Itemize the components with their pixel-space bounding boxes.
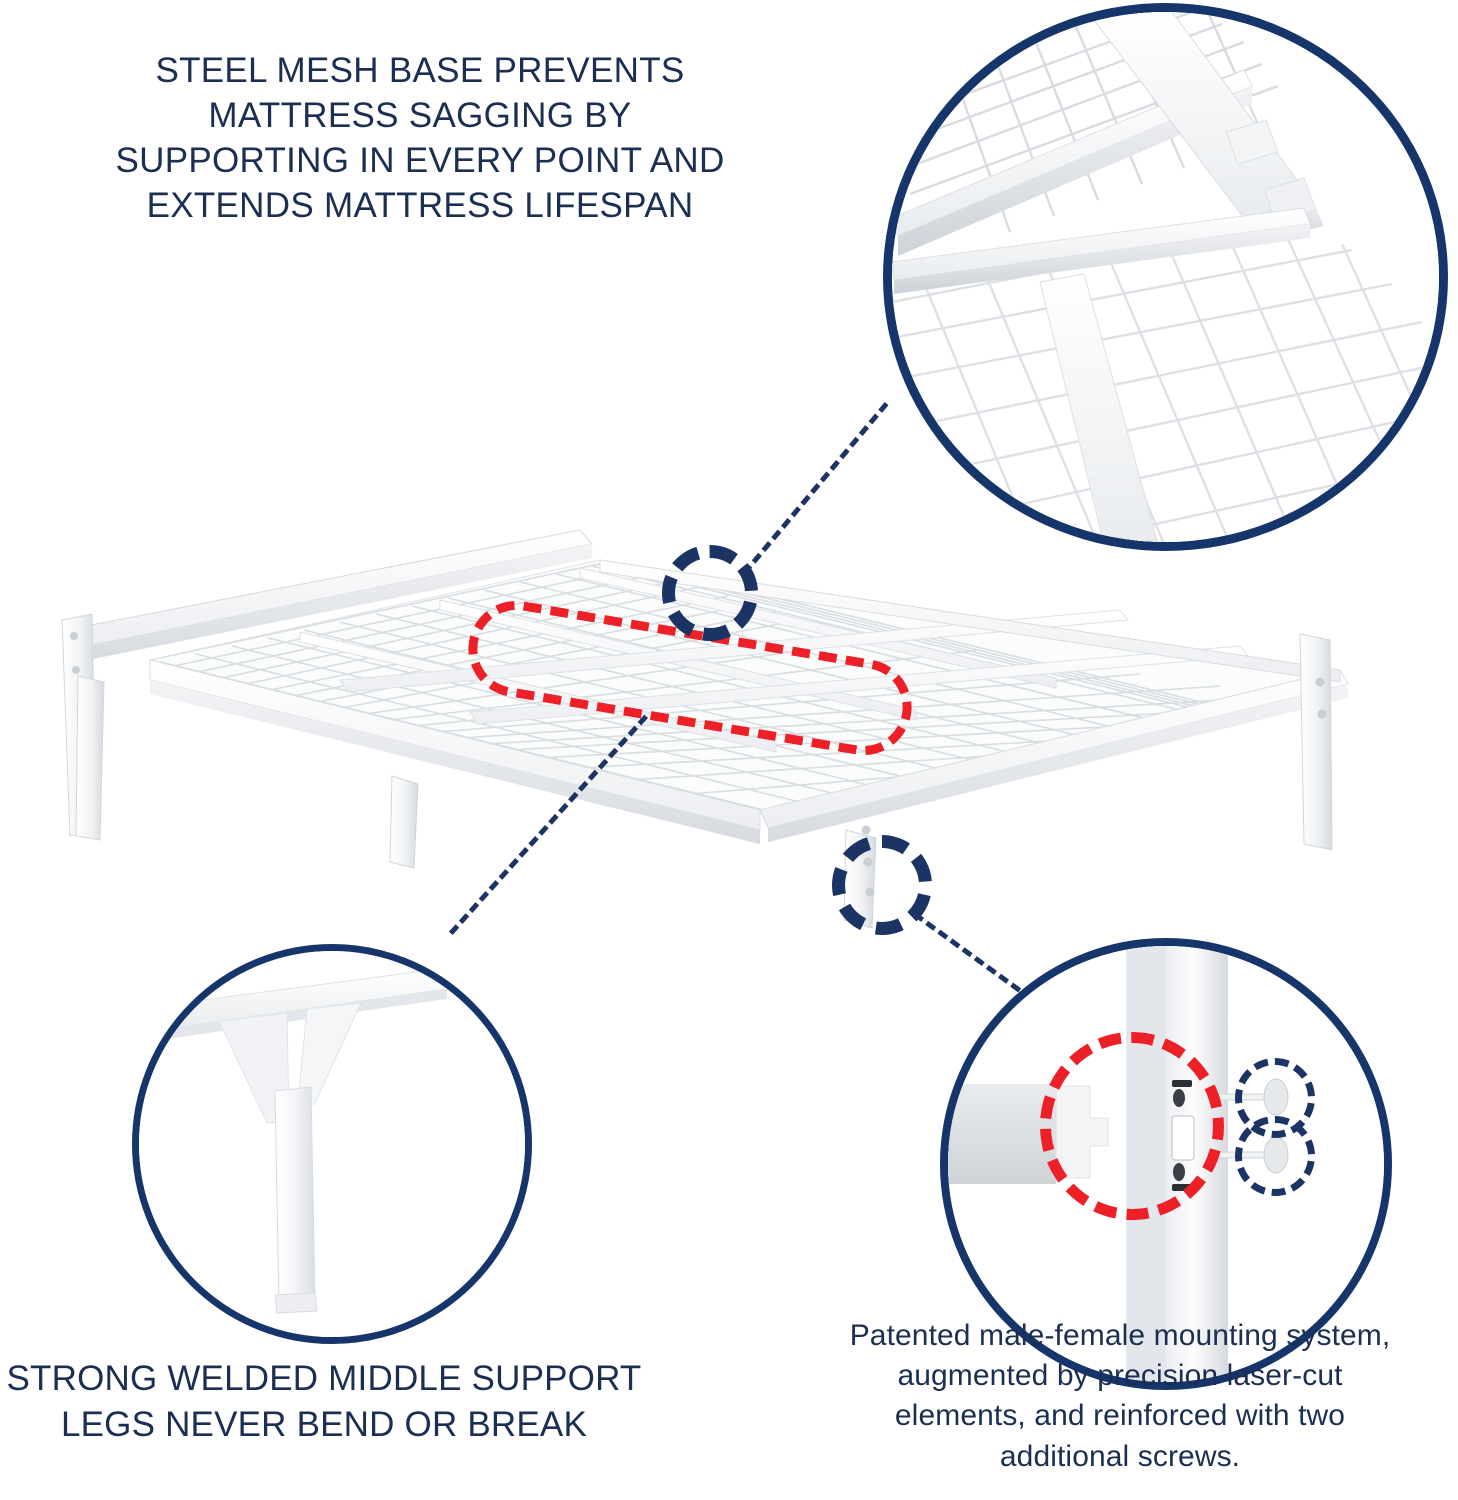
mesh-closeup-svg bbox=[892, 12, 1440, 544]
callout-steel-mesh-art bbox=[892, 12, 1439, 542]
callout-steel-mesh bbox=[883, 3, 1448, 551]
caption-bl-line-2: LEGS NEVER BEND OR BREAK bbox=[0, 1402, 654, 1448]
post-foot bbox=[275, 1293, 317, 1313]
support-post bbox=[275, 1087, 315, 1305]
corner-joint-marker bbox=[832, 835, 932, 935]
mesh-deck-marker bbox=[662, 545, 758, 641]
caption-br-line-3: elements, and reinforced with two bbox=[790, 1396, 1450, 1436]
infographic-canvas: STEEL MESH BASE PREVENTS MATTRESS SAGGIN… bbox=[0, 0, 1458, 1500]
caption-middle-support: STRONG WELDED MIDDLE SUPPORT LEGS NEVER … bbox=[0, 1356, 654, 1447]
caption-mounting-system: Patented male-female mounting system, au… bbox=[790, 1316, 1450, 1477]
caption-bl-line-1: STRONG WELDED MIDDLE SUPPORT bbox=[0, 1356, 654, 1402]
headline-line-2: MATTRESS SAGGING BY bbox=[60, 93, 780, 138]
caption-br-line-2: augmented by precision laser-cut bbox=[790, 1356, 1450, 1396]
callout-middle-leg-art bbox=[139, 951, 525, 1337]
headline-line-4: EXTENDS MATTRESS LIFESPAN bbox=[60, 183, 780, 228]
caption-br-line-1: Patented male-female mounting system, bbox=[790, 1316, 1450, 1356]
male-female-connection-ring bbox=[1040, 1032, 1224, 1220]
headline-line-3: SUPPORTING IN EVERY POINT AND bbox=[60, 138, 780, 183]
caption-br-line-4: additional screws. bbox=[790, 1437, 1450, 1477]
headline-line-1: STEEL MESH BASE PREVENTS bbox=[60, 48, 780, 93]
middle-leg-svg bbox=[139, 951, 525, 1337]
screw-ring-lower bbox=[1235, 1116, 1315, 1196]
callout-middle-support-leg bbox=[132, 944, 532, 1344]
headline-text: STEEL MESH BASE PREVENTS MATTRESS SAGGIN… bbox=[60, 48, 780, 229]
